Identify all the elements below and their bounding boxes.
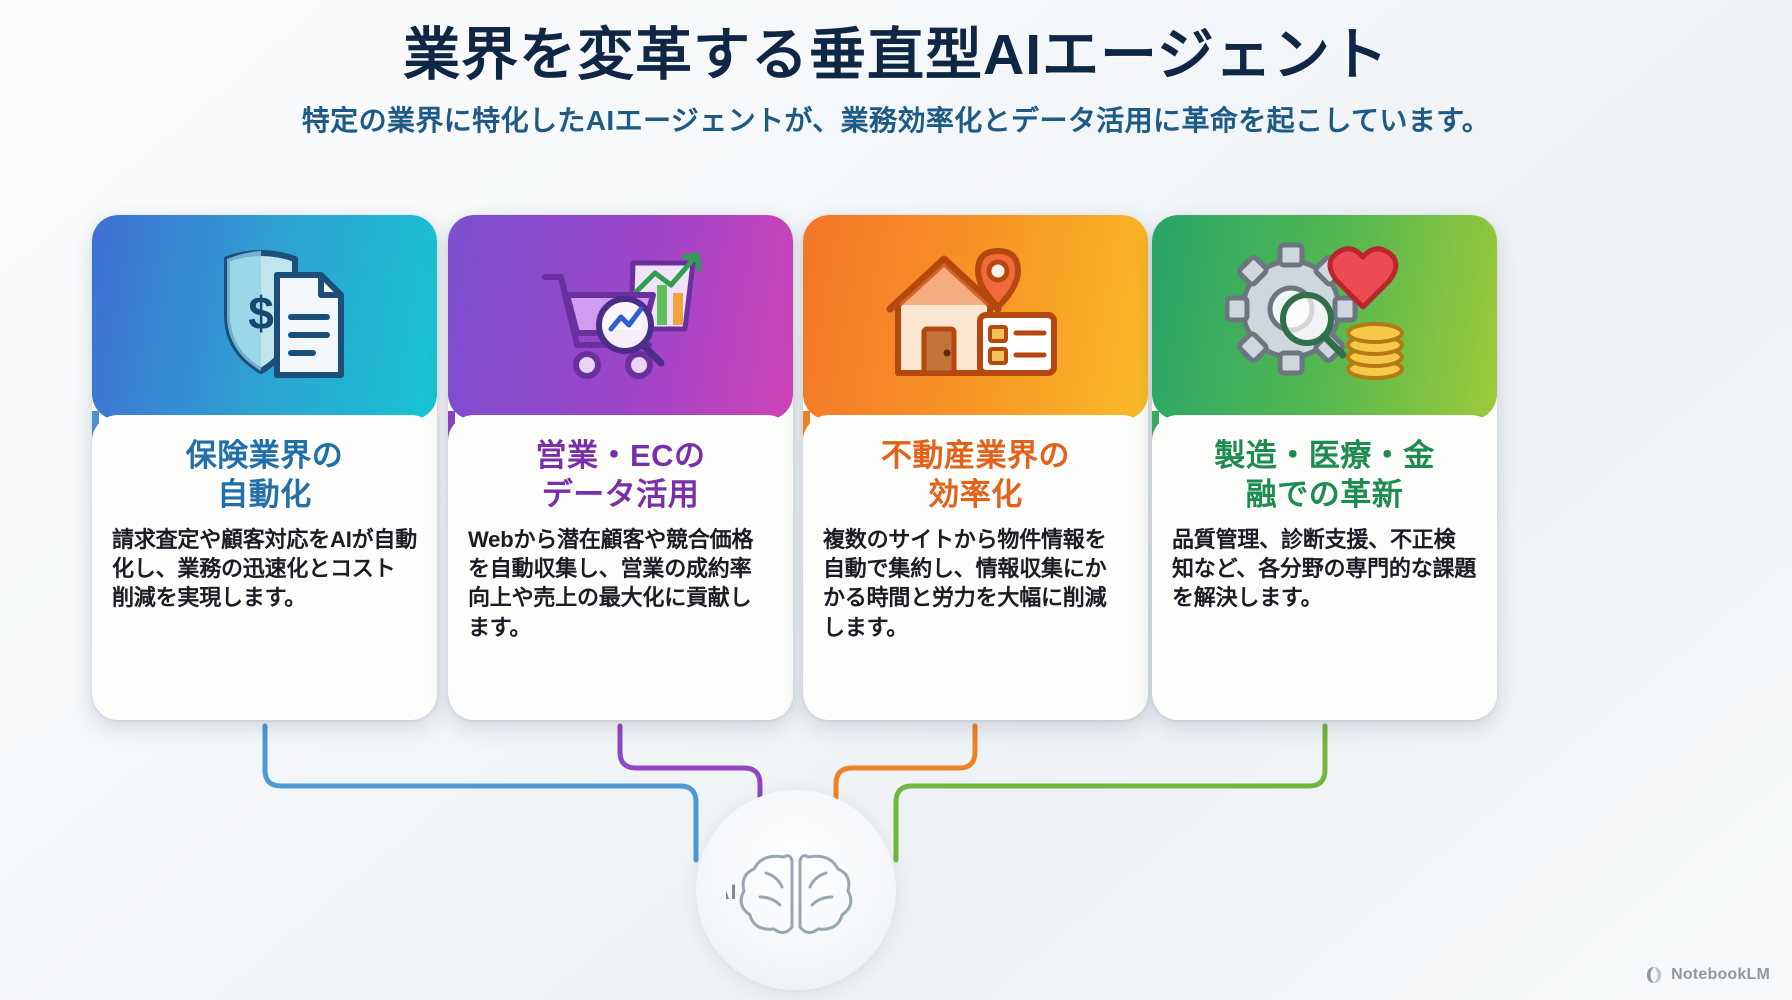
card-header-manufacturing: [1152, 215, 1497, 420]
page-header: 業界を変革する垂直型AIエージェント 特定の業界に特化したAIエージェントが、業…: [0, 24, 1792, 137]
house-location-pin-icon: [876, 233, 1076, 403]
card-title-line2: 効率化: [823, 476, 1128, 515]
card-title-sales-ec: 営業・ECの データ活用: [468, 437, 773, 515]
ai-hub-node[interactable]: AI: [696, 790, 896, 990]
card-text-manufacturing: 品質管理、診断支援、不正検知など、各分野の専門的な課題を解決します。: [1172, 525, 1477, 613]
notebooklm-label: NotebookLM: [1671, 966, 1770, 984]
card-insurance[interactable]: $ 保険業界の 自動化 請求査定や顧客対応をAIが自動化し、業務の迅速化とコスト…: [92, 215, 437, 720]
card-title-line1: 不動産業界の: [823, 437, 1128, 476]
card-row: $ 保険業界の 自動化 請求査定や顧客対応をAIが自動化し、業務の迅速化とコスト…: [0, 215, 1792, 725]
ai-hub-label: AI: [726, 881, 738, 904]
page-title: 業界を変革する垂直型AIエージェント: [0, 24, 1792, 88]
card-text-sales-ec: Webから潜在顧客や競合価格を自動収集し、営業の成約率向上や売上の最大化に貢献し…: [468, 525, 773, 643]
card-body-manufacturing: 製造・医療・金 融での革新 品質管理、診断支援、不正検知など、各分野の専門的な課…: [1152, 415, 1497, 720]
card-title-real-estate: 不動産業界の 効率化: [823, 437, 1128, 515]
card-title-line1: 製造・医療・金: [1172, 437, 1477, 476]
card-manufacturing-medical-finance[interactable]: 製造・医療・金 融での革新 品質管理、診断支援、不正検知など、各分野の専門的な課…: [1152, 215, 1497, 720]
card-text-insurance: 請求査定や顧客対応をAIが自動化し、業務の迅速化とコスト削減を実現します。: [112, 525, 417, 613]
card-body-real-estate: 不動産業界の 効率化 複数のサイトから物件情報を自動で集約し、情報収集にかかる時…: [803, 415, 1148, 720]
card-header-real-estate: [803, 215, 1148, 420]
card-body-sales-ec: 営業・ECの データ活用 Webから潜在顧客や競合価格を自動収集し、営業の成約率…: [448, 415, 793, 720]
card-title-manufacturing: 製造・医療・金 融での革新: [1172, 437, 1477, 515]
card-title-line1: 営業・ECの: [468, 437, 773, 476]
card-body-insurance: 保険業界の 自動化 請求査定や顧客対応をAIが自動化し、業務の迅速化とコスト削減…: [92, 415, 437, 720]
card-sales-ec[interactable]: 営業・ECの データ活用 Webから潜在顧客や競合価格を自動収集し、営業の成約率…: [448, 215, 793, 720]
card-title-line2: 融での革新: [1172, 476, 1477, 515]
card-title-line1: 保険業界の: [112, 437, 417, 476]
notebooklm-watermark: NotebookLM: [1644, 966, 1770, 984]
card-title-insurance: 保険業界の 自動化: [112, 437, 417, 515]
card-real-estate[interactable]: 不動産業界の 効率化 複数のサイトから物件情報を自動で集約し、情報収集にかかる時…: [803, 215, 1148, 720]
shield-document-icon: $: [165, 233, 365, 403]
card-title-line2: 自動化: [112, 476, 417, 515]
card-text-real-estate: 複数のサイトから物件情報を自動で集約し、情報収集にかかる時間と労力を大幅に削減し…: [823, 525, 1128, 643]
svg-text:$: $: [248, 287, 274, 339]
page-subtitle: 特定の業界に特化したAIエージェントが、業務効率化とデータ活用に革命を起こしてい…: [0, 104, 1792, 138]
card-header-sales-ec: [448, 215, 793, 420]
shopping-cart-chart-icon: [521, 233, 721, 403]
card-title-line2: データ活用: [468, 476, 773, 515]
gear-heart-coins-icon: [1225, 233, 1425, 403]
card-header-insurance: $: [92, 215, 437, 420]
ai-brain-icon: AI: [726, 835, 866, 945]
notebooklm-icon: [1644, 966, 1664, 984]
